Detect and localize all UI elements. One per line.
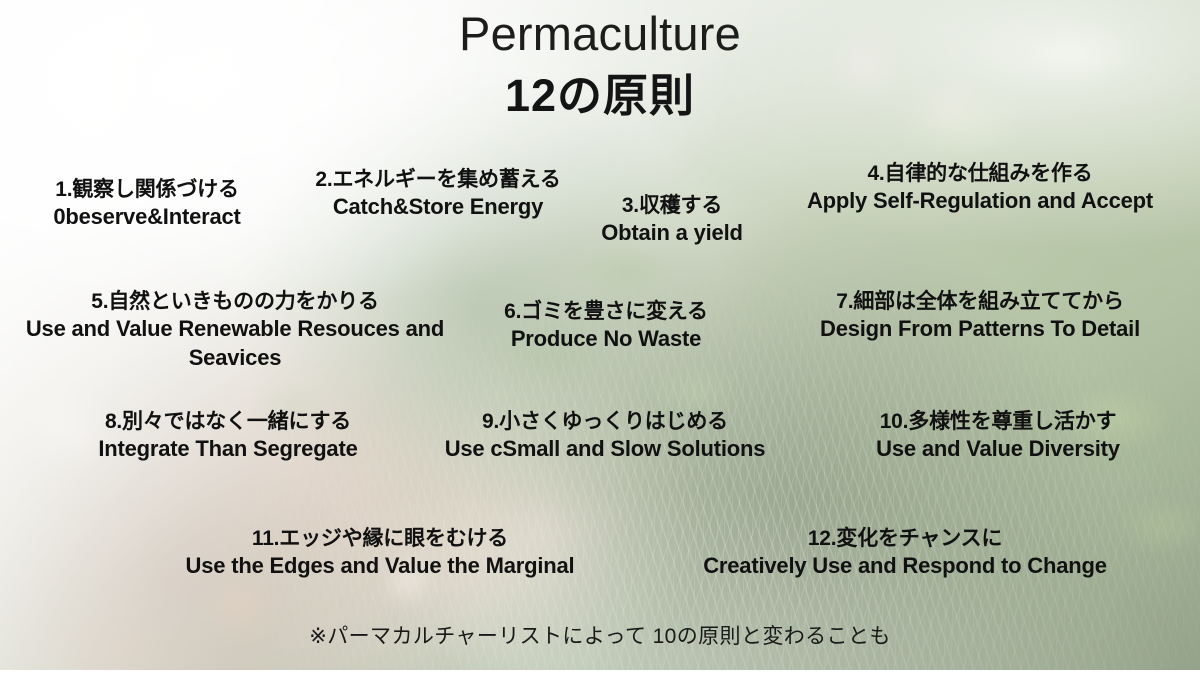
footnote-note: ※パーマカルチャーリストによって 10の原則と変わることも xyxy=(0,620,1200,650)
principle-12-english: Creatively Use and Respond to Change xyxy=(640,552,1170,581)
principle-item-10: 10.多様性を尊重し活かす Use and Value Diversity xyxy=(818,408,1178,464)
principle-2-english: Catch&Store Energy xyxy=(288,193,588,222)
principle-item-2: 2.エネルギーを集め蓄える Catch&Store Energy xyxy=(288,166,588,222)
principle-4-japanese: 4.自律的な仕組みを作る xyxy=(760,160,1200,187)
principle-item-12: 12.変化をチャンスに Creatively Use and Respond t… xyxy=(640,525,1170,581)
principle-6-japanese: 6.ゴミを豊さに変える xyxy=(456,298,756,325)
principle-4-english: Apply Self-Regulation and Accept xyxy=(760,187,1200,216)
principle-12-japanese: 12.変化をチャンスに xyxy=(640,525,1170,552)
principle-8-english: Integrate Than Segregate xyxy=(28,435,428,464)
principle-9-japanese: 9.小さくゆっくりはじめる xyxy=(400,408,810,435)
principle-8-japanese: 8.別々ではなく一緒にする xyxy=(28,408,428,435)
principle-1-english: 0beserve&Interact xyxy=(12,203,282,232)
principle-5-english: Use and Value Renewable Resouces and Sea… xyxy=(0,315,470,372)
principle-9-english: Use cSmall and Slow Solutions xyxy=(400,435,810,464)
principle-5-japanese: 5.自然といきものの力をかりる xyxy=(0,288,470,315)
principle-item-8: 8.別々ではなく一緒にする Integrate Than Segregate xyxy=(28,408,428,464)
slide-content: Permaculture 12の原則 1.観察し関係づける 0beserve&I… xyxy=(0,0,1200,675)
principle-1-japanese: 1.観察し関係づける xyxy=(12,176,282,203)
principle-7-japanese: 7.細部は全体を組み立ててから xyxy=(760,288,1200,315)
principle-11-japanese: 11.エッジや縁に眼をむける xyxy=(120,525,640,552)
principle-item-5: 5.自然といきものの力をかりる Use and Value Renewable … xyxy=(0,288,470,372)
principle-6-english: Produce No Waste xyxy=(456,325,756,354)
principle-item-3: 3.収穫する Obtain a yield xyxy=(572,192,772,248)
principle-2-japanese: 2.エネルギーを集め蓄える xyxy=(288,166,588,193)
principle-item-4: 4.自律的な仕組みを作る Apply Self-Regulation and A… xyxy=(760,160,1200,216)
page-title-english: Permaculture xyxy=(0,8,1200,61)
principle-10-japanese: 10.多様性を尊重し活かす xyxy=(818,408,1178,435)
permaculture-slide: Permaculture 12の原則 1.観察し関係づける 0beserve&I… xyxy=(0,0,1200,675)
principle-11-english: Use the Edges and Value the Marginal xyxy=(120,552,640,581)
principle-item-7: 7.細部は全体を組み立ててから Design From Patterns To … xyxy=(760,288,1200,344)
principle-3-english: Obtain a yield xyxy=(572,219,772,248)
principle-7-english: Design From Patterns To Detail xyxy=(760,315,1200,344)
principle-item-1: 1.観察し関係づける 0beserve&Interact xyxy=(12,176,282,232)
principle-item-11: 11.エッジや縁に眼をむける Use the Edges and Value t… xyxy=(120,525,640,581)
bottom-white-strip xyxy=(0,670,1200,675)
principle-item-9: 9.小さくゆっくりはじめる Use cSmall and Slow Soluti… xyxy=(400,408,810,464)
principle-item-6: 6.ゴミを豊さに変える Produce No Waste xyxy=(456,298,756,354)
principle-10-english: Use and Value Diversity xyxy=(818,435,1178,464)
principle-3-japanese: 3.収穫する xyxy=(572,192,772,219)
page-title-japanese: 12の原則 xyxy=(0,70,1200,122)
